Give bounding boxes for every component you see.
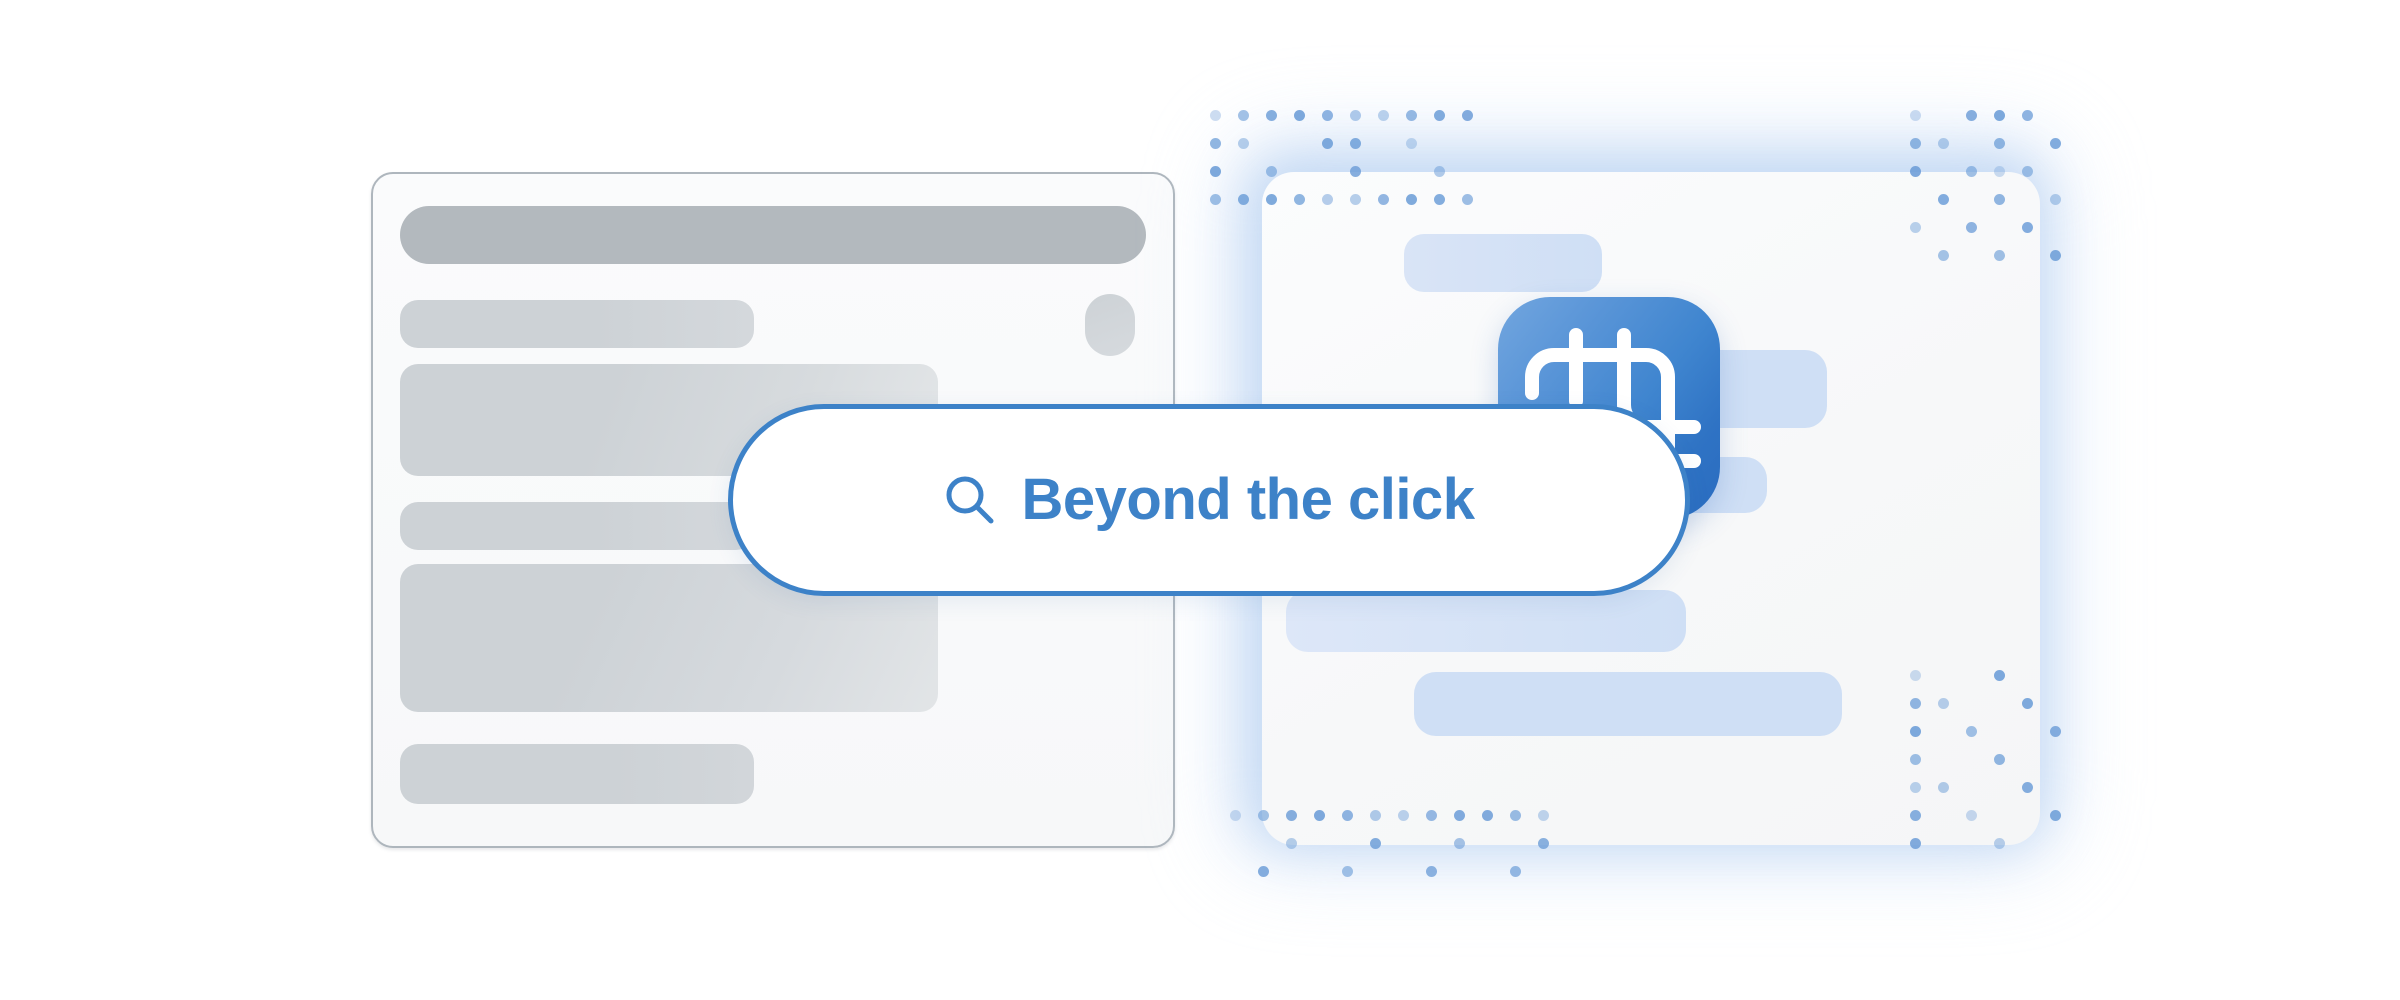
search-bar[interactable]: Beyond the click xyxy=(728,404,1690,596)
content-bar-1 xyxy=(1404,234,1602,292)
search-input[interactable]: Beyond the click xyxy=(1022,471,1475,529)
content-bar-5 xyxy=(1414,672,1842,736)
content-bar-4 xyxy=(1286,590,1686,652)
skeleton-row-1 xyxy=(400,300,754,348)
search-icon xyxy=(944,474,996,526)
illustration-canvas: Beyond the click xyxy=(0,0,2400,1000)
skeleton-row-3 xyxy=(400,502,754,550)
skeleton-row-5 xyxy=(400,744,754,804)
window-header-bar xyxy=(400,206,1146,264)
window-side-chip xyxy=(1085,294,1135,356)
